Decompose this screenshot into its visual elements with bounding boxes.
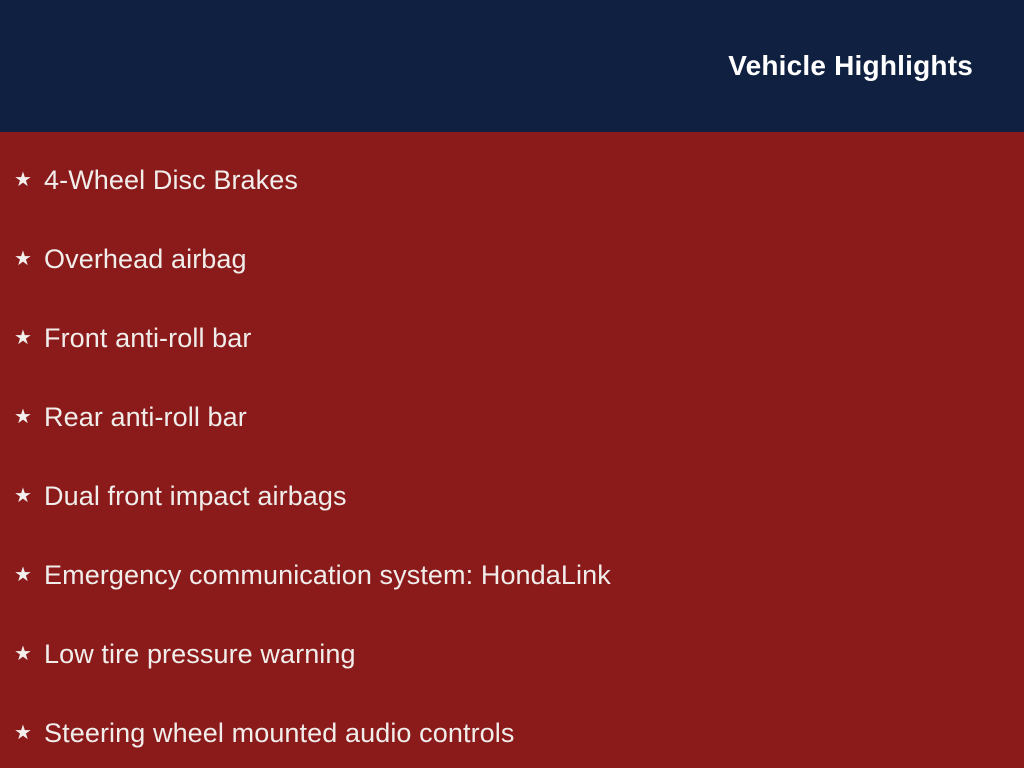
list-item-label: Low tire pressure warning: [44, 639, 356, 670]
list-item: ★ Steering wheel mounted audio controls: [0, 694, 1024, 768]
list-item: ★ Low tire pressure warning: [0, 615, 1024, 694]
list-item: ★ Emergency communication system: HondaL…: [0, 536, 1024, 615]
list-item: ★ Dual front impact airbags: [0, 457, 1024, 536]
list-item-label: Steering wheel mounted audio controls: [44, 718, 515, 749]
slide-header: Vehicle Highlights: [0, 0, 1024, 132]
list-item-label: Front anti-roll bar: [44, 323, 251, 354]
list-item-label: 4-Wheel Disc Brakes: [44, 165, 298, 196]
list-item: ★ Overhead airbag: [0, 220, 1024, 299]
star-icon: ★: [14, 407, 44, 427]
list-item: ★ Front anti-roll bar: [0, 299, 1024, 378]
star-icon: ★: [14, 723, 44, 743]
vehicle-highlights-list: ★ 4-Wheel Disc Brakes ★ Overhead airbag …: [0, 132, 1024, 768]
list-item-label: Dual front impact airbags: [44, 481, 347, 512]
star-icon: ★: [14, 170, 44, 190]
list-item: ★ Rear anti-roll bar: [0, 378, 1024, 457]
star-icon: ★: [14, 249, 44, 269]
star-icon: ★: [14, 328, 44, 348]
list-item: ★ 4-Wheel Disc Brakes: [0, 141, 1024, 220]
list-item-label: Rear anti-roll bar: [44, 402, 247, 433]
star-icon: ★: [14, 644, 44, 664]
star-icon: ★: [14, 565, 44, 585]
list-item-label: Emergency communication system: HondaLin…: [44, 560, 611, 591]
page-title: Vehicle Highlights: [728, 52, 973, 80]
list-item-label: Overhead airbag: [44, 244, 247, 275]
star-icon: ★: [14, 486, 44, 506]
vehicle-highlights-slide: Vehicle Highlights ★ 4-Wheel Disc Brakes…: [0, 0, 1024, 768]
slide-body: ★ 4-Wheel Disc Brakes ★ Overhead airbag …: [0, 132, 1024, 768]
